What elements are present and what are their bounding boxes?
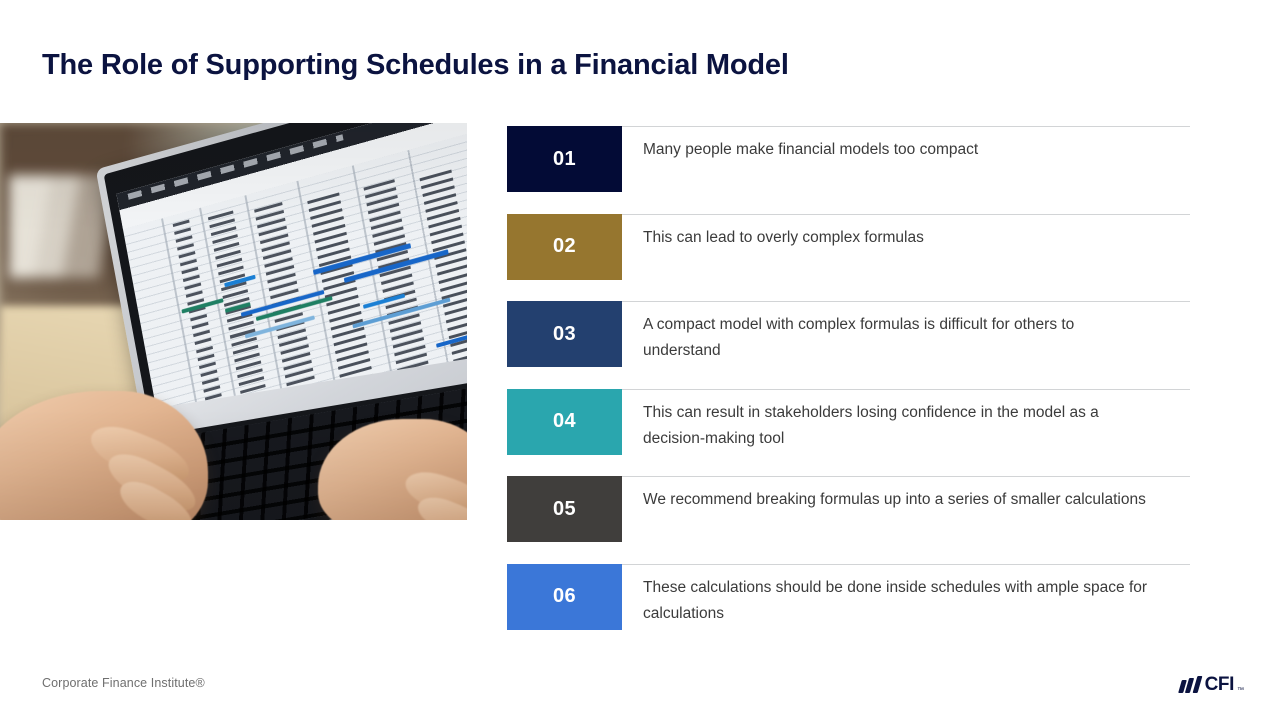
trademark-icon: ™ [1237, 687, 1244, 694]
list-item[interactable]: 05 We recommend breaking formulas up int… [507, 476, 1190, 564]
person-using-laptop-spreadsheet-photo [0, 123, 467, 520]
list-item-number-badge: 02 [507, 214, 622, 280]
list-item-text: This can lead to overly complex formulas [643, 225, 1153, 251]
list-item-text: Many people make financial models too co… [643, 137, 1153, 163]
left-hand [0, 391, 208, 520]
list-item[interactable]: 06 These calculations should be done ins… [507, 564, 1190, 652]
slide-canvas: The Role of Supporting Schedules in a Fi… [0, 0, 1280, 720]
list-item-text: We recommend breaking formulas up into a… [643, 487, 1153, 513]
list-item-text: These calculations should be done inside… [643, 575, 1153, 627]
list-item[interactable]: 02 This can lead to overly complex formu… [507, 214, 1190, 302]
list-item-number-badge: 06 [507, 564, 622, 630]
list-item-number-badge: 05 [507, 476, 622, 542]
numbered-points-list: 01 Many people make financial models too… [507, 126, 1190, 651]
list-item-number-badge: 01 [507, 126, 622, 192]
list-item[interactable]: 01 Many people make financial models too… [507, 126, 1190, 214]
list-item-text: A compact model with complex formulas is… [643, 312, 1153, 364]
list-item-number-badge: 03 [507, 301, 622, 367]
list-item-number-badge: 04 [507, 389, 622, 455]
cfi-logo: CFI ™ [1180, 673, 1244, 695]
list-item[interactable]: 03 A compact model with complex formulas… [507, 301, 1190, 389]
list-item-text: This can result in stakeholders losing c… [643, 400, 1153, 452]
page-title: The Role of Supporting Schedules in a Fi… [42, 48, 1162, 83]
cfi-logo-wordmark: CFI [1205, 675, 1234, 694]
cfi-logo-mark-icon [1180, 676, 1200, 693]
list-item[interactable]: 04 This can result in stakeholders losin… [507, 389, 1190, 477]
footer-attribution: Corporate Finance Institute® [42, 676, 205, 690]
